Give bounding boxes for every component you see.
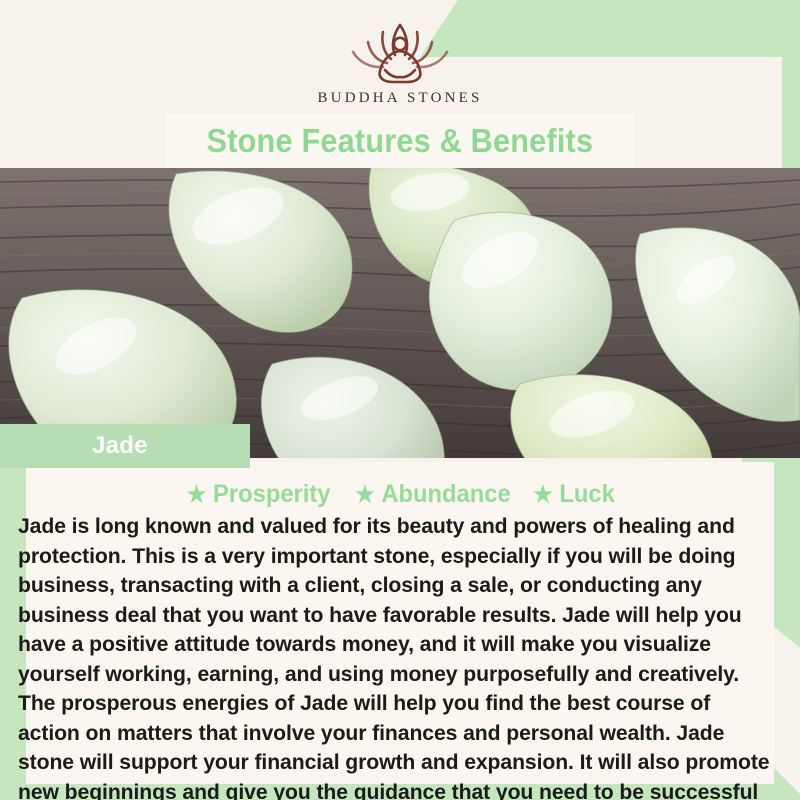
page-title: Stone Features & Benefits — [207, 122, 594, 160]
infographic-page: BUDDHA STONES Stone Features & Benefits — [0, 0, 800, 800]
brand-logo: BUDDHA STONES — [0, 18, 800, 118]
benefits-row: ★ Prosperity ★ Abundance ★ Luck — [0, 478, 800, 510]
benefit-item-luck: ★ Luck — [533, 480, 615, 509]
stone-name-tag: Jade — [0, 424, 250, 468]
star-icon: ★ — [355, 483, 375, 506]
lotus-meditation-icon — [325, 18, 475, 88]
stone-name: Jade — [92, 432, 148, 460]
star-icon: ★ — [533, 483, 553, 506]
benefit-label: Prosperity — [214, 480, 331, 509]
stone-description: Jade is long known and valued for its be… — [18, 512, 774, 800]
hero-image — [0, 168, 800, 458]
title-banner: Stone Features & Benefits — [165, 114, 635, 168]
star-icon: ★ — [187, 483, 207, 506]
benefit-item-prosperity: ★ Prosperity — [187, 480, 331, 509]
benefit-label: Abundance — [381, 480, 510, 509]
jade-stones-photo — [0, 168, 800, 458]
brand-name: BUDDHA STONES — [317, 90, 482, 107]
benefit-label: Luck — [559, 480, 614, 509]
benefit-item-abundance: ★ Abundance — [355, 480, 511, 509]
